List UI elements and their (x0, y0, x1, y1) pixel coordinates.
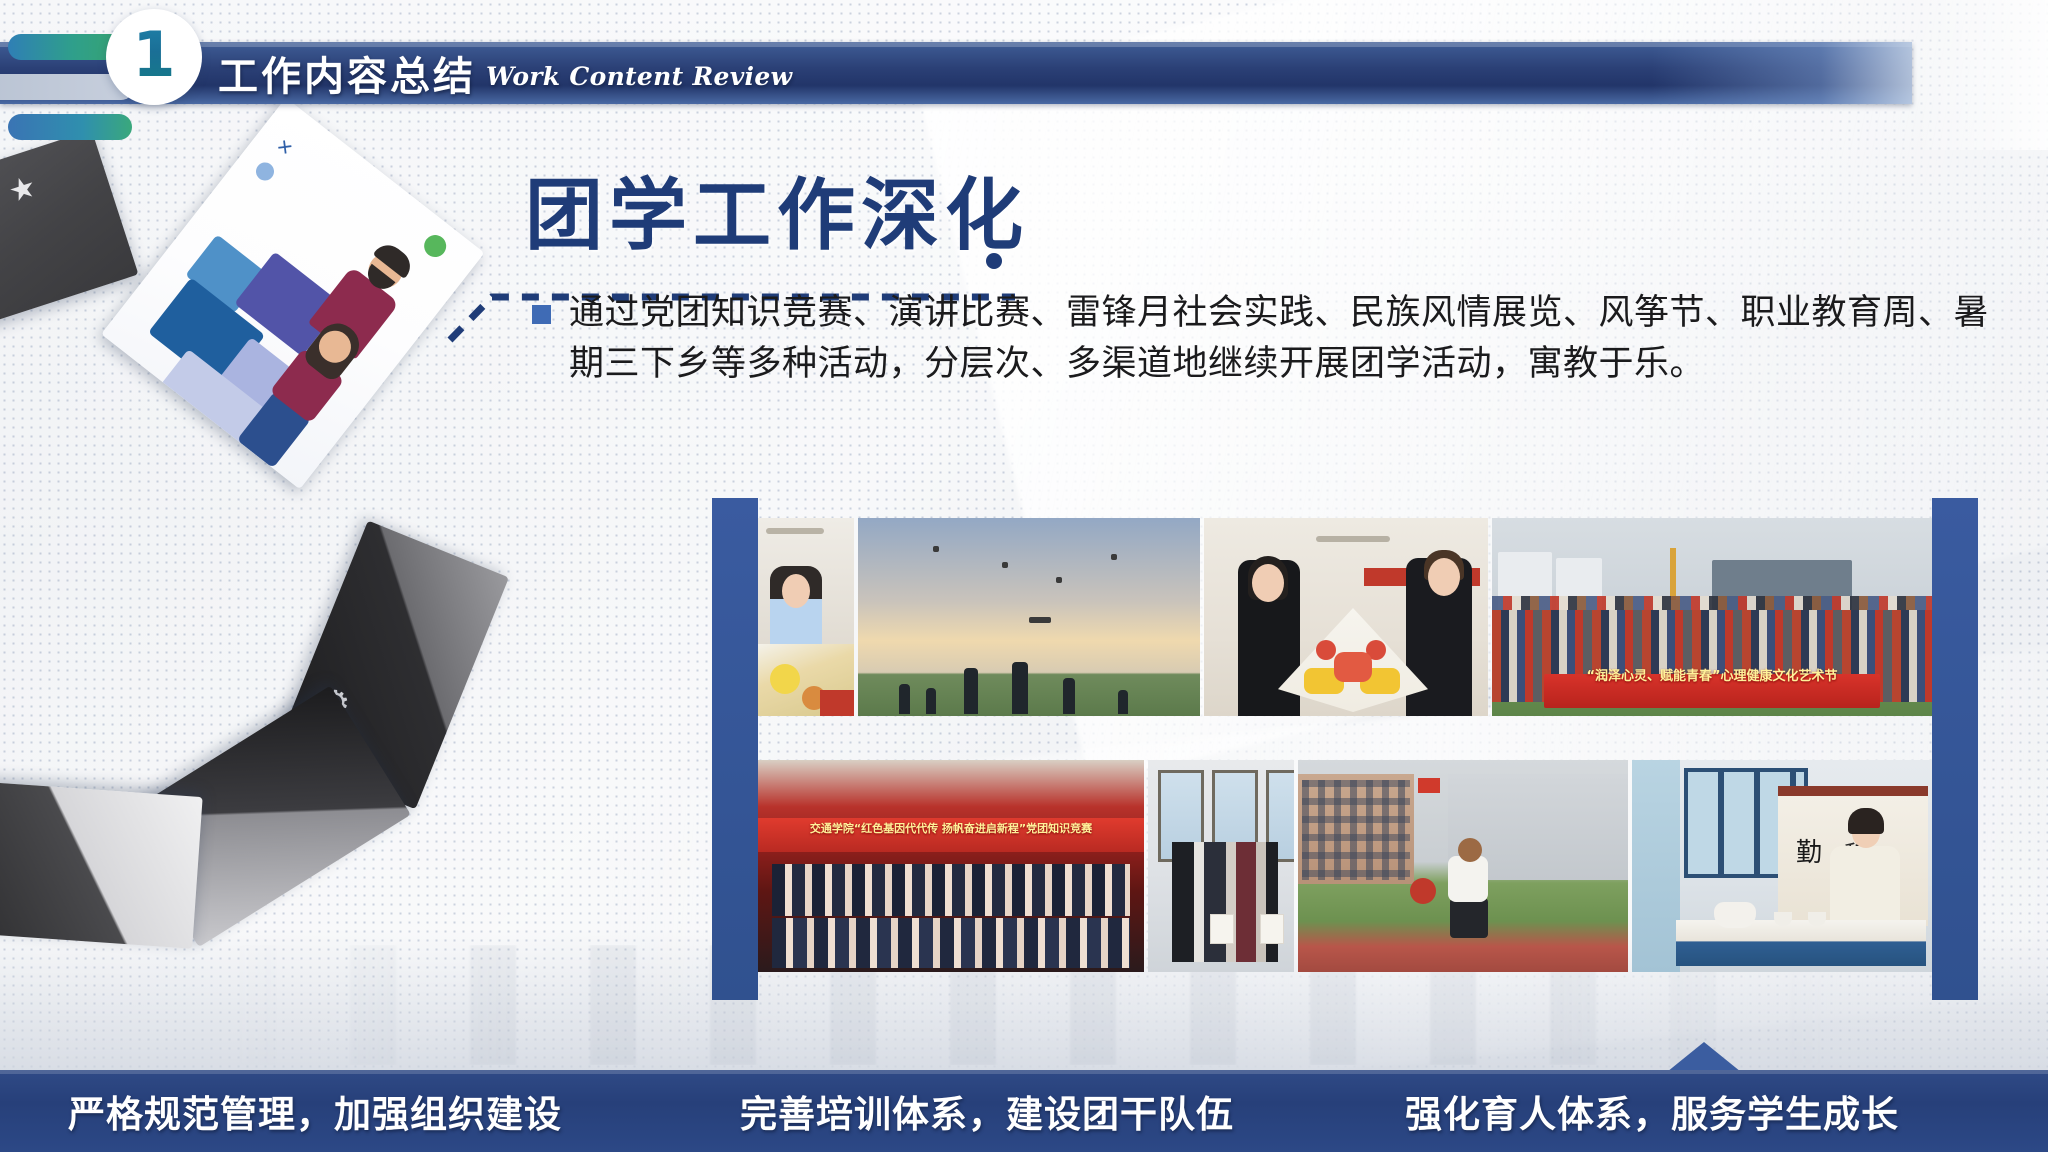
teapot (1714, 902, 1756, 928)
discus-target (1410, 878, 1436, 904)
person-silhouette (899, 684, 910, 714)
person-silhouette (964, 668, 978, 714)
ceiling-fan-blade (766, 528, 824, 534)
window-curtain (1632, 760, 1680, 972)
certificate (1260, 914, 1284, 944)
photo-tea-ceremony: 勤 和 (1632, 760, 1932, 972)
header-decorative-pills: 1 (0, 26, 180, 152)
kite-motif (770, 664, 800, 694)
kite-pattern (1334, 652, 1372, 682)
athlete-torso (1448, 856, 1488, 902)
certificate (1210, 914, 1234, 944)
section-number-text: 1 (132, 24, 175, 86)
person-silhouette (1118, 690, 1128, 714)
photo-banner-caption: 交通学院“红色基因代代传 扬帆奋进启新程”党团知识竞赛 (758, 822, 1144, 835)
photo-students-holding-kite (1204, 518, 1488, 716)
student-left-face (1252, 564, 1284, 602)
athlete-legs (1450, 898, 1488, 938)
teacup (1808, 912, 1826, 926)
decorative-x-icon: ✕ (272, 135, 297, 161)
photo-group-mental-health-festival: “润泽心灵、赋能青春”心理健康文化艺术节 (1492, 518, 1932, 716)
tea-table (1676, 920, 1926, 966)
teacup (1774, 912, 1792, 926)
photo-party-knowledge-contest: 交通学院“红色基因代代传 扬帆奋进启新程”党团知识竞赛 (758, 760, 1144, 972)
header-title-group: 工作内容总结 Work Content Review (218, 42, 792, 104)
collage-right-frame-bar (1932, 498, 1978, 1000)
page-title: 团学工作深化 (525, 153, 1029, 265)
seated-students-front-row (772, 918, 1130, 968)
chinese-flag (1418, 778, 1440, 793)
presentation-slide: ✕ (0, 0, 2048, 1152)
student-group-row (1172, 842, 1278, 962)
section-header-banner: 1 工作内容总结 Work Content Review (0, 42, 1912, 104)
athlete-head (1458, 838, 1482, 862)
kite-in-sky (1111, 554, 1117, 560)
ceiling-fan-blade (1316, 536, 1390, 542)
person-silhouette (926, 688, 936, 714)
footer-nav-bar: 严格规范管理，加强组织建设 完善培训体系，建设团干队伍 强化育人体系，服务学生成… (0, 1070, 2048, 1152)
kite-in-sky (933, 546, 939, 552)
kite-in-sky (1056, 577, 1062, 583)
decorative-blue-dot (252, 159, 277, 184)
student-right-face (1428, 558, 1460, 596)
photo-banner-caption: “润泽心灵、赋能青春”心理健康文化艺术节 (1492, 669, 1932, 685)
footer-item-3[interactable]: 强化育人体系，服务学生成长 (1405, 1084, 1899, 1138)
construction-crane (1670, 548, 1676, 600)
kite-eye (1316, 640, 1336, 660)
kite-in-sky (1002, 562, 1008, 568)
header-title-english: Work Content Review (486, 62, 792, 91)
tea-host-hair (1848, 808, 1884, 834)
collage-row-top: “润泽心灵、赋能青春”心理健康文化艺术节 (758, 518, 1932, 716)
collage-left-frame-bar (712, 498, 758, 1000)
person-silhouette (1063, 678, 1075, 714)
calligraphy-character: 勤 (1796, 832, 1822, 869)
bullet-square-icon (532, 305, 551, 324)
photo-athlete-discus-throw (1298, 760, 1628, 972)
footer-item-2[interactable]: 完善培训体系，建设团干队伍 (740, 1084, 1234, 1138)
collage-row-bottom: 交通学院“红色基因代代传 扬帆奋进启新程”党团知识竞赛 (758, 760, 1932, 972)
kite-in-sky (1029, 617, 1051, 623)
person-silhouette (1012, 662, 1028, 714)
header-title-chinese: 工作内容总结 (218, 44, 476, 102)
bullet-paragraph-text: 通过党团知识竞赛、演讲比赛、雷锋月社会实践、民族风情展览、风筝节、职业教育周、暑… (569, 288, 1994, 390)
background-right-fade (1912, 0, 2048, 150)
photo-students-certificates (1148, 760, 1294, 972)
photo-kite-painting-student (758, 518, 854, 716)
pill-shape-bottom (8, 114, 132, 140)
person-face (782, 574, 810, 608)
seated-students-back-row (772, 864, 1130, 916)
photo-kite-flying-field (858, 518, 1200, 716)
tea-host-body (1830, 846, 1900, 920)
red-desk-edge (820, 690, 854, 716)
photo-collage: “润泽心灵、赋能青春”心理健康文化艺术节 交通学院“红色基因代代传 扬帆奋进启新… (712, 498, 1978, 1000)
footer-item-1[interactable]: 严格规范管理，加强组织建设 (68, 1084, 562, 1138)
decorative-green-dot (420, 231, 451, 262)
circular-image-ring: ✕ (0, 150, 490, 940)
section-number-badge: 1 (106, 9, 202, 105)
building-windows (1302, 780, 1410, 880)
bullet-paragraph: 通过党团知识竞赛、演讲比赛、雷锋月社会实践、民族风情展览、风筝节、职业教育周、暑… (532, 288, 1994, 390)
